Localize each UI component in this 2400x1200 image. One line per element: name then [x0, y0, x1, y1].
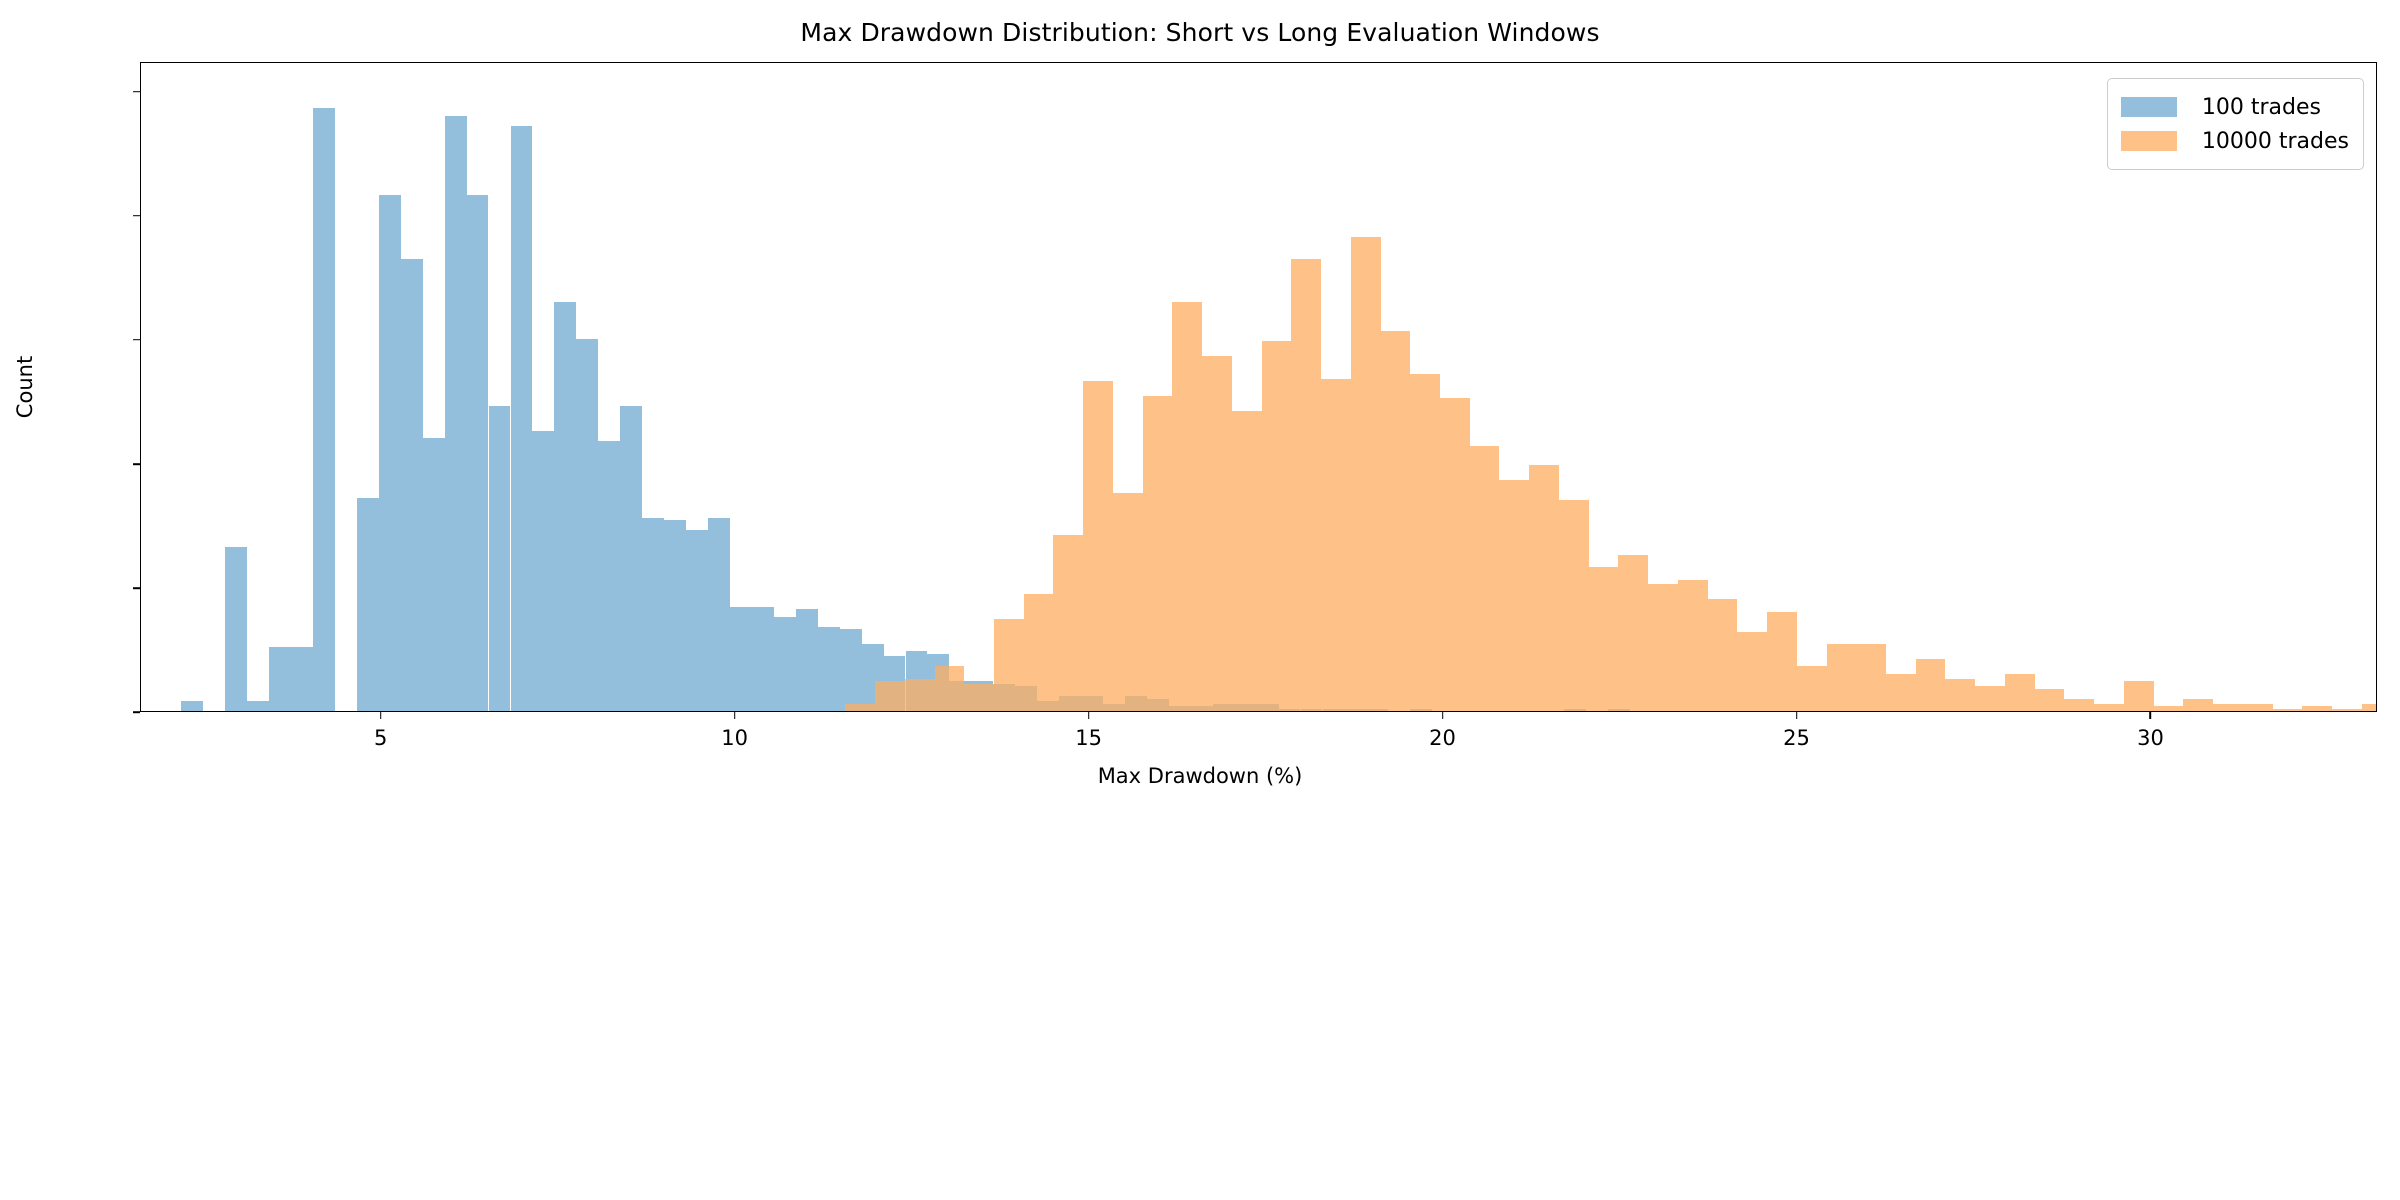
histogram-bar — [708, 518, 730, 712]
histogram-bar — [1559, 500, 1589, 711]
y-tick-mark — [133, 711, 140, 713]
legend-item-10000-trades[interactable]: 10000 trades — [2121, 124, 2349, 158]
legend-swatch-10000-trades — [2121, 131, 2177, 151]
histogram-bar — [2005, 674, 2035, 711]
x-tick-label: 30 — [2137, 726, 2164, 750]
histogram-bar — [1856, 644, 1886, 711]
histogram-bar — [2183, 699, 2213, 711]
histogram-bar — [796, 609, 818, 711]
histogram-bar — [2154, 706, 2184, 711]
histogram-bar — [313, 108, 335, 711]
x-tick-mark — [1442, 712, 1444, 719]
histogram-bar — [1618, 555, 1648, 711]
histogram-bar — [1916, 659, 1946, 711]
histogram-bar — [269, 647, 291, 712]
y-tick-mark — [133, 339, 140, 341]
histogram-bar — [845, 704, 875, 711]
histogram-bar — [2124, 681, 2154, 711]
chart-figure: Max Drawdown Distribution: Short vs Long… — [0, 0, 2400, 1200]
histogram-bar — [1499, 480, 1529, 711]
histogram-bar — [1648, 584, 1678, 711]
y-tick-mark — [133, 463, 140, 465]
histogram-bar — [2213, 704, 2243, 711]
histogram-bar — [445, 116, 467, 711]
histogram-bar — [1767, 612, 1797, 711]
x-axis-label: Max Drawdown (%) — [0, 764, 2400, 788]
histogram-bar — [401, 259, 423, 711]
histogram-bar — [1678, 580, 1708, 711]
histogram-bar — [554, 302, 576, 711]
x-tick-label: 20 — [1429, 726, 1456, 750]
histogram-bar — [1410, 374, 1440, 711]
histogram-bar — [2332, 709, 2362, 711]
legend-label-100-trades: 100 trades — [2202, 95, 2321, 120]
histogram-bar — [1232, 411, 1262, 711]
histogram-bar — [1737, 632, 1767, 711]
histogram-bar — [1053, 535, 1083, 711]
histogram-bar — [1172, 302, 1202, 711]
histogram-bar — [379, 195, 401, 711]
chart-title: Max Drawdown Distribution: Short vs Long… — [0, 18, 2400, 47]
histogram-bar — [2064, 699, 2094, 711]
histogram-bar — [1083, 381, 1113, 711]
histogram-bar — [1321, 379, 1351, 711]
histogram-bar — [291, 647, 313, 712]
histogram-bar — [774, 617, 796, 711]
histogram-bar — [181, 701, 203, 711]
histogram-bar — [1351, 237, 1381, 711]
histogram-bar — [642, 518, 664, 712]
x-tick-label: 25 — [1783, 726, 1810, 750]
histogram-bar — [1024, 594, 1054, 711]
histogram-bar — [1470, 446, 1500, 711]
histogram-bar — [686, 530, 708, 711]
histogram-bar — [875, 681, 905, 711]
plot-area — [140, 62, 2377, 712]
histogram-bar — [467, 195, 489, 711]
histogram-bar — [1886, 674, 1916, 711]
histogram-bar — [1529, 465, 1559, 711]
y-tick-mark — [133, 91, 140, 93]
histogram-bar — [2362, 704, 2377, 711]
histogram-bar — [1945, 679, 1975, 711]
histogram-bar — [2035, 689, 2065, 711]
histogram-bar — [1113, 493, 1143, 711]
histogram-bar — [730, 607, 752, 711]
histogram-bar — [532, 431, 554, 711]
histogram-bar — [247, 701, 269, 711]
histogram-bar — [511, 126, 533, 711]
histogram-bar — [576, 339, 598, 711]
chart-legend[interactable]: 100 trades 10000 trades — [2107, 78, 2364, 170]
histogram-bar — [620, 406, 642, 711]
histogram-bar — [423, 438, 445, 711]
legend-item-100-trades[interactable]: 100 trades — [2121, 90, 2349, 124]
histogram-bar — [935, 666, 965, 711]
x-tick-label: 15 — [1075, 726, 1102, 750]
histogram-bar — [1440, 398, 1470, 711]
histogram-bar — [1589, 567, 1619, 711]
histogram-bar — [357, 498, 379, 711]
histogram-bar — [2094, 704, 2124, 711]
x-tick-mark — [1088, 712, 1090, 719]
x-tick-mark — [2150, 712, 2152, 719]
x-tick-label: 5 — [374, 726, 387, 750]
x-tick-mark — [380, 712, 382, 719]
y-tick-mark — [133, 587, 140, 589]
y-tick-mark — [133, 215, 140, 217]
histogram-bar — [964, 684, 994, 711]
histogram-bar — [994, 619, 1024, 711]
x-tick-mark — [1796, 712, 1798, 719]
histogram-bar — [1708, 599, 1738, 711]
histogram-bar — [1202, 356, 1232, 711]
histogram-bar — [1975, 686, 2005, 711]
histogram-bar — [2273, 709, 2303, 711]
histogram-bar — [840, 629, 862, 711]
y-axis: 050100150200250 — [0, 0, 140, 1200]
histogram-bars-layer — [141, 63, 2376, 711]
x-tick-label: 10 — [721, 726, 748, 750]
histogram-bar — [1827, 644, 1857, 711]
x-tick-mark — [734, 712, 736, 719]
histogram-bar — [225, 547, 247, 711]
histogram-bar — [1262, 341, 1292, 711]
histogram-bar — [1797, 666, 1827, 711]
histogram-bar — [598, 441, 620, 711]
histogram-bar — [905, 679, 935, 711]
histogram-bar — [1381, 331, 1411, 711]
histogram-bar — [664, 520, 686, 711]
y-axis-label: Count — [13, 356, 37, 418]
histogram-bar — [818, 627, 840, 711]
histogram-bar — [752, 607, 774, 711]
histogram-bar — [489, 406, 511, 711]
histogram-bar — [2302, 706, 2332, 711]
histogram-bar — [1143, 396, 1173, 711]
legend-swatch-100-trades — [2121, 97, 2177, 117]
histogram-bar — [2243, 704, 2273, 711]
histogram-bar — [1291, 259, 1321, 711]
legend-label-10000-trades: 10000 trades — [2202, 129, 2349, 154]
